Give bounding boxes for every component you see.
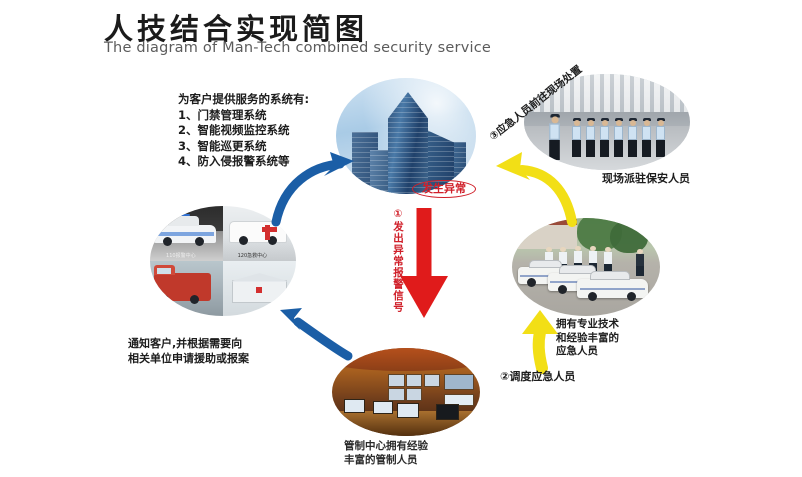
tile-police: 110报警中心	[150, 206, 223, 261]
video-wall-panel	[406, 388, 422, 400]
service-item-1: 1、门禁管理系统	[178, 108, 353, 124]
photo-patrol-cars	[512, 218, 660, 316]
operator-monitor	[373, 401, 392, 414]
guard-figure	[642, 118, 651, 157]
label-alarm-signal: ①发出异常报警信号	[392, 208, 404, 313]
notify-line-2: 相关单位申请援助或报案	[128, 351, 313, 366]
arrow-services-to-building	[272, 150, 362, 230]
page-subtitle: The diagram of Man-Tech combined securit…	[104, 40, 491, 56]
guard-figure	[614, 118, 623, 157]
guard-figure	[628, 118, 637, 157]
diagram-canvas: 人技结合实现简图 The diagram of Man-Tech combine…	[0, 0, 802, 477]
video-wall-panel	[388, 388, 404, 400]
tile-fire-truck	[150, 261, 223, 316]
caption-line: 丰富的管制人员	[344, 454, 514, 468]
arrow-dispatch-to-cars	[516, 308, 570, 372]
callout-abnormal: 发生异常	[412, 180, 476, 198]
ceiling	[332, 348, 480, 371]
caption-line: 拥有专业技术	[556, 318, 666, 332]
tile-label-police: 110报警中心	[166, 252, 196, 259]
operator-monitor	[436, 404, 460, 420]
patrol-car	[577, 279, 648, 299]
notify-line-1: 通知客户,并根据需要向	[128, 336, 313, 351]
video-wall-panel	[406, 374, 422, 386]
caption-line: 管制中心拥有经验	[344, 440, 514, 454]
video-wall-panel	[424, 374, 440, 386]
caption-line: 和经验丰富的	[556, 332, 666, 346]
operator-monitor	[397, 403, 419, 418]
caption-line: 应急人员	[556, 345, 666, 359]
tile-label-ambulance: 120急救中心	[238, 252, 268, 259]
callout-abnormal-text: 发生异常	[412, 180, 476, 198]
guard-figure	[586, 118, 595, 157]
operator-monitor	[344, 399, 365, 413]
services-heading: 为客户提供服务的系统有:	[178, 92, 353, 108]
caption-security-guards: 现场派驻保安人员	[602, 170, 690, 186]
arrow-cars-to-site	[492, 130, 582, 226]
label-dispatch-staff: ②调度应急人员	[500, 368, 575, 384]
guard-figure	[656, 118, 665, 157]
police-car	[154, 225, 215, 244]
service-item-2: 2、智能视频监控系统	[178, 123, 353, 139]
officer-standing	[636, 249, 644, 276]
guard-figure	[600, 118, 609, 157]
compound-wall	[515, 224, 577, 249]
photo-control-center	[332, 348, 480, 436]
video-wall-large	[444, 374, 474, 390]
label-notify-client: 通知客户,并根据需要向 相关单位申请援助或报案	[128, 336, 313, 366]
video-wall-panel	[388, 374, 404, 386]
tree	[610, 220, 648, 253]
caption-emergency-staff: 拥有专业技术 和经验丰富的 应急人员	[556, 318, 666, 359]
arrow-alarm-signal-down	[398, 206, 450, 324]
caption-control-center: 管制中心拥有经验 丰富的管制人员	[344, 440, 514, 467]
fire-truck	[154, 273, 211, 301]
